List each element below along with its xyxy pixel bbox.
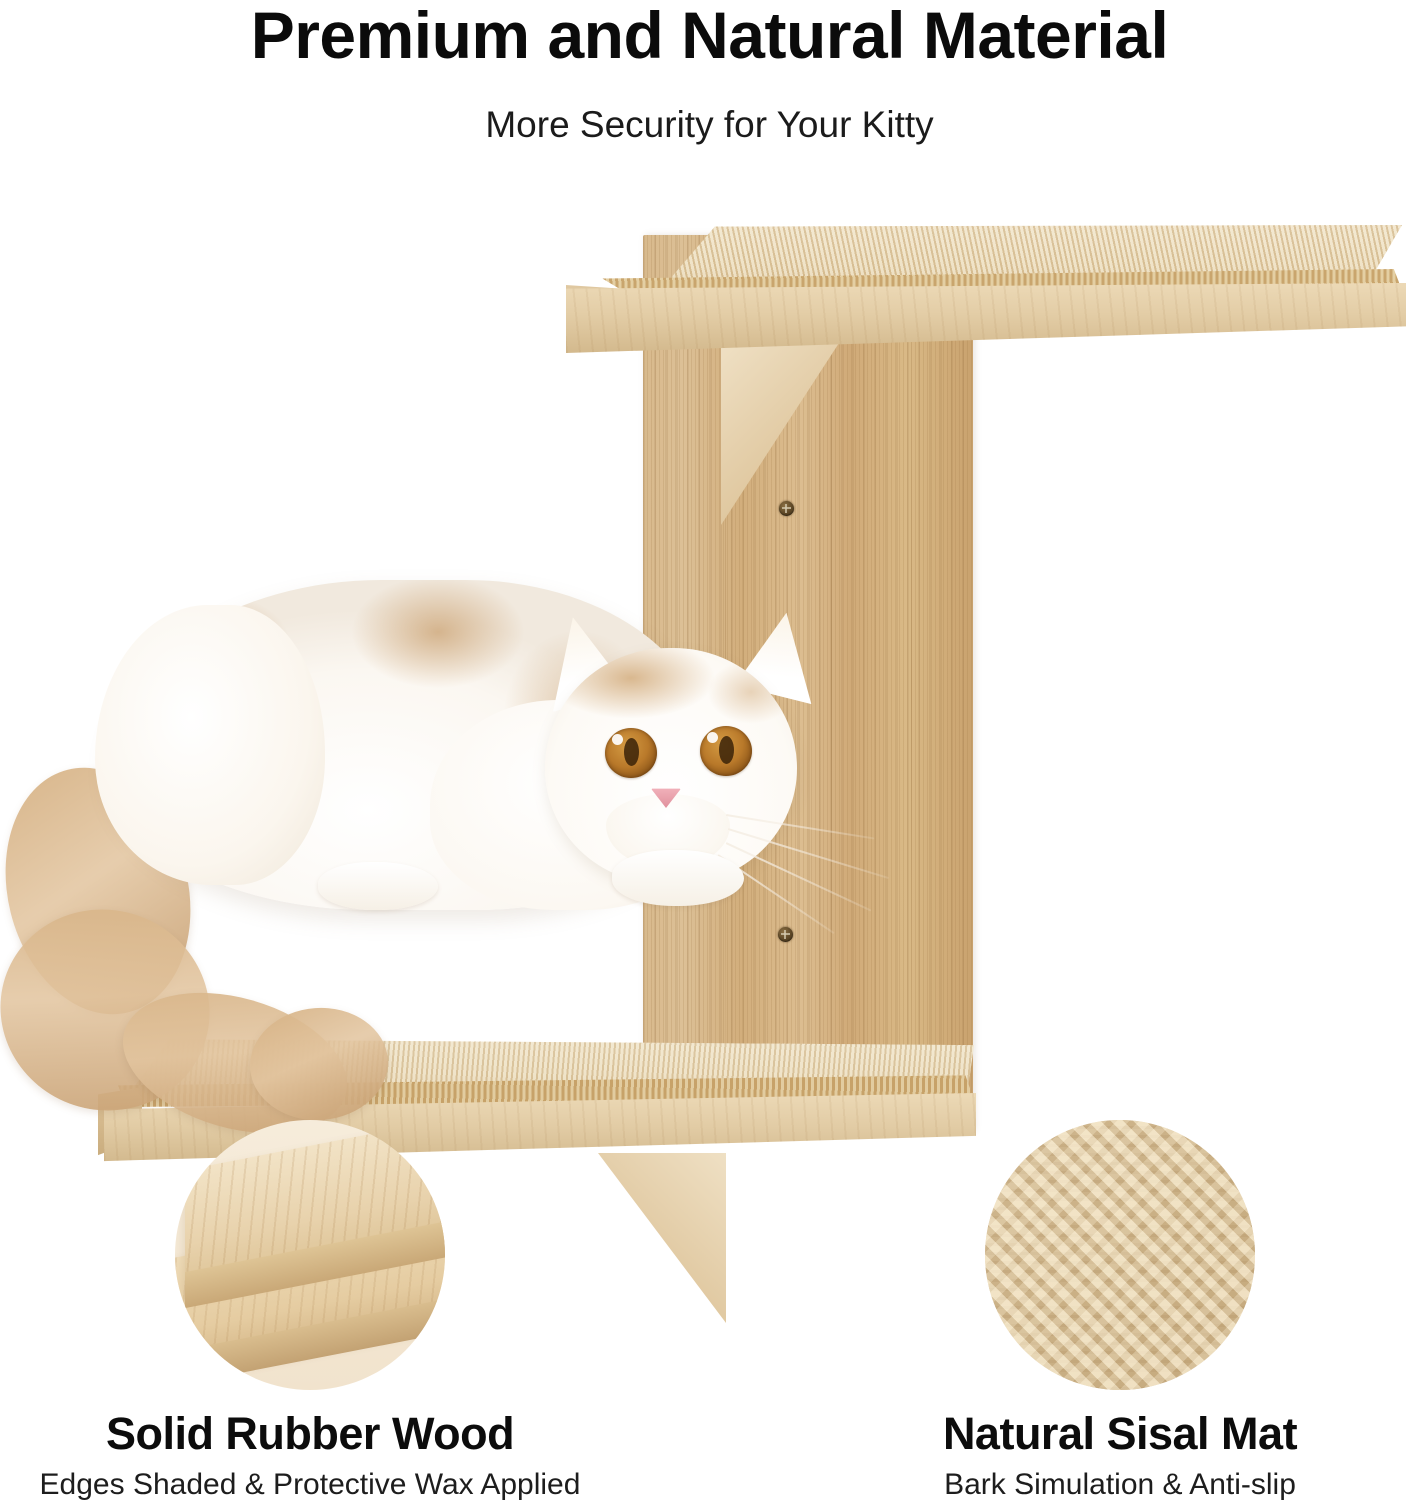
cat-eye-glint-left: [612, 734, 623, 745]
wood-swatch-circle: [175, 1120, 445, 1390]
feature-subtitle: Bark Simulation & Anti-slip: [765, 1468, 1419, 1502]
product-hero-image: [0, 180, 1419, 1120]
cat-whisker: [726, 842, 872, 911]
feature-solid-rubber-wood: Solid Rubber Wood Edges Shaded & Protect…: [0, 1110, 665, 1502]
page-title: Premium and Natural Material: [0, 2, 1419, 68]
stacked-wood-boards-image: [175, 1120, 445, 1390]
feature-subtitle: Edges Shaded & Protective Wax Applied: [0, 1468, 665, 1502]
upper-shelf: [566, 225, 1406, 355]
upper-wooden-plank: [566, 283, 1406, 353]
feature-callouts: Solid Rubber Wood Edges Shaded & Protect…: [0, 1110, 1419, 1500]
feature-title: Natural Sisal Mat: [765, 1408, 1419, 1460]
cat-back-paw: [318, 862, 438, 910]
sisal-swatch-circle: [985, 1120, 1255, 1390]
page-subtitle: More Security for Your Kitty: [0, 104, 1419, 146]
mounting-screw-upper: [779, 501, 794, 516]
cat-photo: [0, 550, 960, 1170]
woven-sisal-texture-image: [985, 1120, 1255, 1390]
cat-haunch: [95, 605, 325, 885]
cat-eye-glint-right: [707, 732, 718, 743]
cat-front-paw: [612, 850, 744, 906]
feature-title: Solid Rubber Wood: [0, 1408, 665, 1460]
feature-natural-sisal-mat: Natural Sisal Mat Bark Simulation & Anti…: [765, 1110, 1419, 1502]
